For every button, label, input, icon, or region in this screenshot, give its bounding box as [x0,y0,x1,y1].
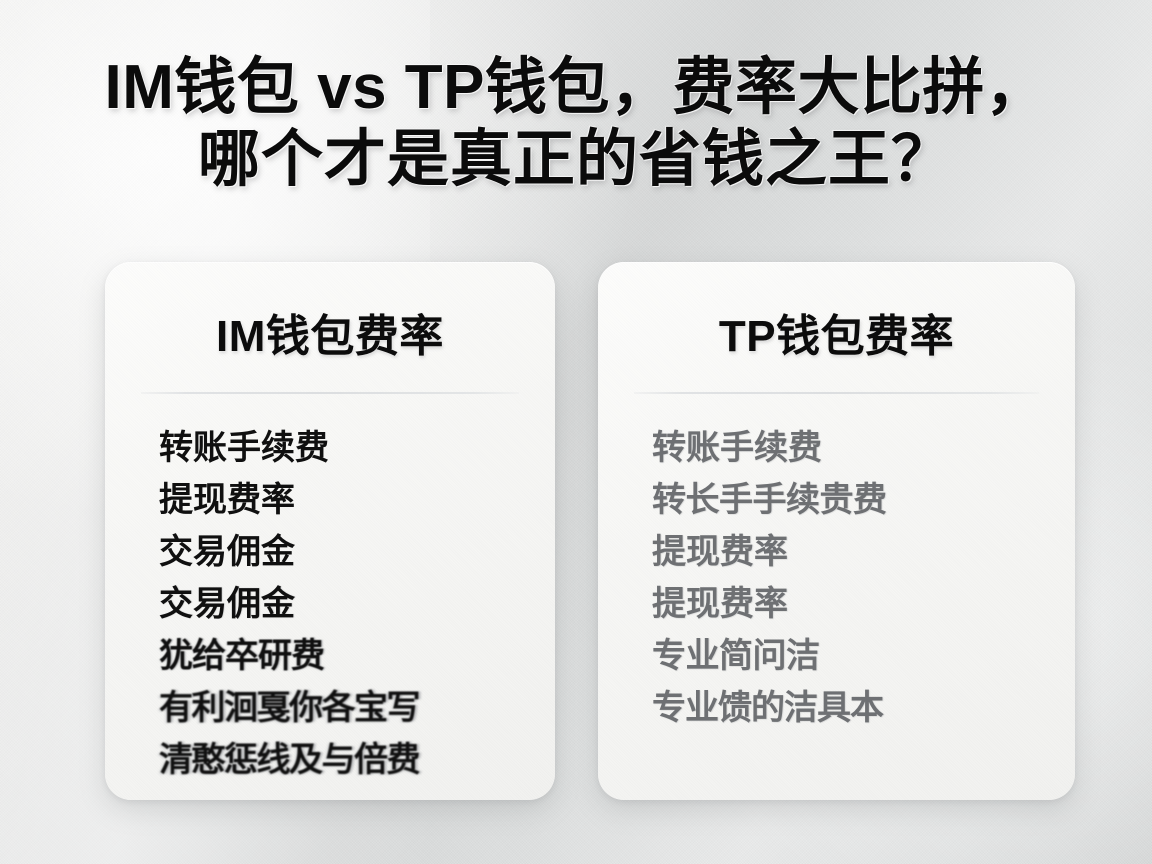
card-im-header: IM钱包费率 [105,300,555,364]
fee-list-item: 有利洄戛你各宝写 [105,682,555,734]
fee-list-item: 交易佣金 [105,578,555,630]
title-line-1: IM钱包 vs TP钱包，费率大比拼， [0,52,1152,124]
card-tp-fee-list: 转账手续费转长手手续贵费提现费率提现费率专业简问洁专业馈的洁具本 [598,394,1075,734]
fee-list-item: 转账手续费 [598,422,1075,474]
fee-list-item: 转账手续费 [105,422,555,474]
fee-list-item: 犹给卒研费 [105,630,555,682]
fee-list-item: 交易佣金 [105,526,555,578]
fee-list-item: 提现费率 [105,474,555,526]
fee-list-item: 转长手手续贵费 [598,474,1075,526]
fee-list-item: 专业简问洁 [598,630,1075,682]
fee-list-item: 清憨惩线及与倍费 [105,734,555,786]
fee-list-item: 提现费率 [598,578,1075,630]
fee-list-item: 提现费率 [598,526,1075,578]
card-tp-header: TP钱包费率 [598,300,1075,364]
card-im-wallet-fees: IM钱包费率 转账手续费提现费率交易佣金交易佣金犹给卒研费有利洄戛你各宝写清憨惩… [105,262,555,800]
title-line-2: 哪个才是真正的省钱之王？ [0,124,1152,196]
fee-list-item: 专业馈的洁具本 [598,682,1075,734]
card-im-fee-list: 转账手续费提现费率交易佣金交易佣金犹给卒研费有利洄戛你各宝写清憨惩线及与倍费 [105,394,555,786]
poster-title: IM钱包 vs TP钱包，费率大比拼， 哪个才是真正的省钱之王？ [0,52,1152,196]
poster-canvas: IM钱包 vs TP钱包，费率大比拼， 哪个才是真正的省钱之王？ IM钱包费率 … [0,0,1152,864]
card-tp-wallet-fees: TP钱包费率 转账手续费转长手手续贵费提现费率提现费率专业简问洁专业馈的洁具本 [598,262,1075,800]
